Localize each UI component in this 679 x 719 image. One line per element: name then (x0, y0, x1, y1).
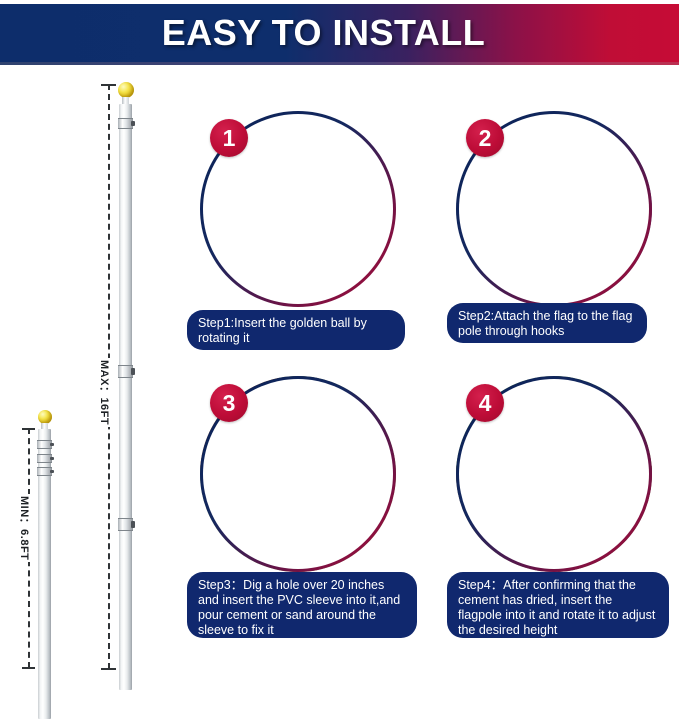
step-1-badge: 1 (210, 119, 248, 157)
page-title: EASY TO INSTALL (162, 12, 486, 54)
down-arrow-icon (586, 436, 608, 508)
buried-pvc-sleeve (526, 508, 558, 572)
step-1: 1 Step1:Insert the golden ball by rotati… (196, 107, 410, 357)
max-height-label: MAX：16FT (96, 358, 114, 427)
tall-pole-collar-lower (118, 518, 133, 531)
step-4: 4 Step4：After confirming that the cement… (452, 372, 666, 642)
step-3: 3 Step3：Dig a hole over 20 inches and in… (196, 372, 410, 642)
tall-pole-collar-mid (118, 365, 133, 378)
step-3-badge: 3 (210, 384, 248, 422)
short-pole-collar-c (37, 467, 52, 476)
step-4-badge: 4 (466, 384, 504, 422)
tall-pole-gold-ball-icon (118, 82, 134, 98)
short-pole-collar-a (37, 440, 52, 449)
brass-grommet (568, 165, 598, 195)
min-dimension-cap-top (22, 428, 35, 430)
max-dimension-cap-bottom (101, 668, 116, 670)
step-2-caption: Step2:Attach the flag to the flag pole t… (447, 303, 647, 343)
step-2-badge: 2 (466, 119, 504, 157)
pole-diagram-area: MAX：16FT MIN：6.8FT (0, 62, 182, 671)
step-1-caption: Step1:Insert the golden ball by rotating… (187, 310, 405, 350)
header-banner: EASY TO INSTALL (0, 4, 679, 62)
short-pole-collar-b (37, 454, 52, 463)
max-dimension-cap-top (101, 84, 116, 86)
gold-ball-ornament (288, 133, 372, 217)
short-pole-gold-ball-icon (38, 410, 52, 424)
tall-pole-shaft (119, 104, 132, 690)
min-dimension-cap-bottom (22, 667, 35, 669)
tall-pole-collar-upper (118, 118, 133, 129)
flagpole-lower-end (528, 376, 556, 492)
step-2: 2 Step2:Attach the flag to the flag pole… (452, 107, 666, 357)
step-4-caption: Step4：After confirming that the cement h… (447, 572, 669, 638)
min-height-label: MIN：6.8FT (16, 494, 34, 562)
step-3-caption: Step3：Dig a hole over 20 inches and inse… (187, 572, 417, 638)
